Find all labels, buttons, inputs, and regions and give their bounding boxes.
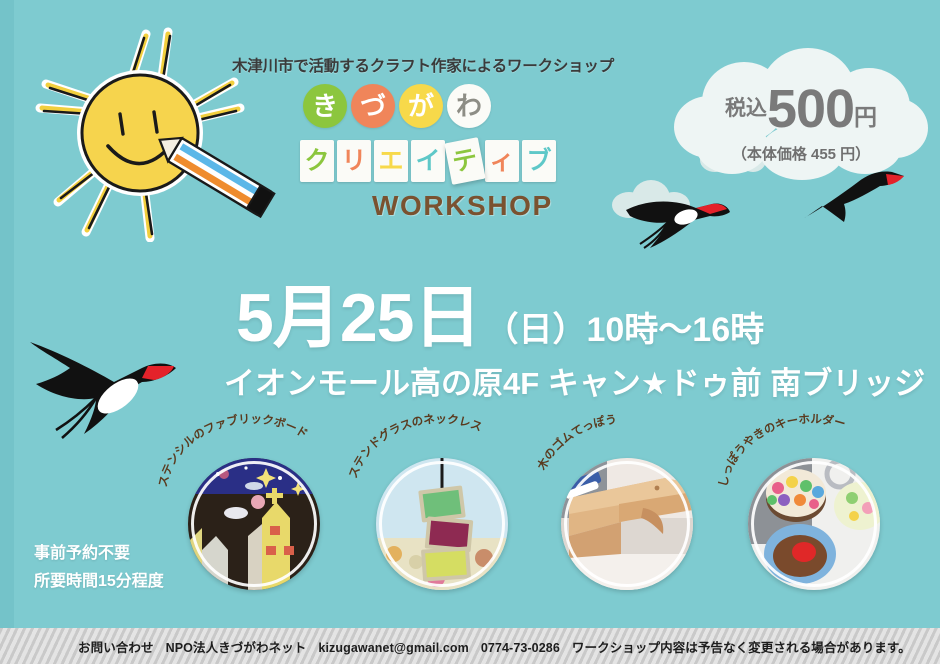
price-currency: 円 bbox=[854, 104, 877, 130]
swallow-icon-middle bbox=[620, 186, 738, 252]
price-amount: 500 bbox=[767, 79, 854, 139]
logo-tile-bu: ブ bbox=[522, 140, 556, 182]
logo-tile-small-i: ィ bbox=[485, 140, 519, 182]
workshop-item-fabric-board[interactable]: ステンシルのファブリックボード bbox=[180, 440, 328, 612]
price-tax-label: 税込 bbox=[725, 97, 767, 120]
note-duration: 所要時間15分程度 bbox=[34, 568, 164, 596]
tagline: 木津川市で活動するクラフト作家によるワークショップ bbox=[232, 54, 572, 76]
price-subtitle: （本体価格 455 円） bbox=[672, 143, 930, 164]
workshop-item-enamel-keychain[interactable]: しっぽうやきのキーホルダー bbox=[740, 440, 888, 612]
workshop-word: WORKSHOP bbox=[372, 190, 553, 222]
price-block: 税込500円 （本体価格 455 円） bbox=[672, 48, 930, 180]
swallow-icon-right bbox=[800, 166, 908, 226]
footer-contact-label: お問い合わせ bbox=[78, 641, 154, 655]
logo-tile-ri: リ bbox=[337, 140, 371, 182]
item-photo-3 bbox=[561, 458, 693, 590]
price-main-line: 税込500円 bbox=[672, 78, 930, 140]
note-no-reservation: 事前予約不要 bbox=[34, 540, 164, 568]
logo-creative: ク リ エ イ テ ィ ブ bbox=[300, 140, 556, 182]
workshop-item-rubber-band-gun[interactable]: 木のゴムてっぽう bbox=[553, 440, 701, 612]
event-date-row: 5月25日（日）10時〜16時 bbox=[236, 262, 936, 361]
footer-email[interactable]: kizugawanet@gmail.com bbox=[318, 641, 468, 655]
footer-organization: NPO法人きづがわネット bbox=[166, 641, 307, 655]
logo-tile-e: エ bbox=[374, 140, 408, 182]
flyer-poster: 木津川市で活動するクラフト作家によるワークショップ き づ が わ ク リ エ … bbox=[0, 0, 940, 664]
logo-tile-ku: ク bbox=[300, 140, 334, 182]
workshop-item-stained-glass[interactable]: ステンドグラスのネックレス bbox=[368, 440, 516, 612]
logo-tile-i: イ bbox=[411, 140, 445, 182]
item-photo-2 bbox=[376, 458, 508, 590]
logo-circle-zu: づ bbox=[351, 84, 395, 128]
footer-bar: お問い合わせNPO法人きづがわネットkizugawanet@gmail.com0… bbox=[0, 628, 940, 664]
swallow-icon-left bbox=[22, 330, 206, 452]
footer-phone[interactable]: 0774-73-0286 bbox=[481, 641, 560, 655]
event-date-detail: （日）10時〜16時 bbox=[484, 311, 764, 349]
logo-circle-ga: が bbox=[399, 84, 443, 128]
logo-circle-ki: き bbox=[303, 84, 347, 128]
event-date-main: 5月25日 bbox=[236, 280, 480, 356]
item-photo-4 bbox=[748, 458, 880, 590]
item-photo-1 bbox=[188, 458, 320, 590]
notes-block: 事前予約不要 所要時間15分程度 bbox=[34, 540, 164, 596]
logo-circle-wa: わ bbox=[447, 84, 491, 128]
footer-contact-line: お問い合わせNPO法人きづがわネットkizugawanet@gmail.com0… bbox=[78, 637, 923, 656]
footer-disclaimer: ワークショップ内容は予告なく変更される場合があります。 bbox=[572, 641, 911, 655]
logo-kizugawa: き づ が わ bbox=[303, 84, 491, 128]
event-venue: イオンモール高の原4F キャン★ドゥ前 南ブリッジ bbox=[224, 358, 940, 403]
logo-tile-te: テ bbox=[444, 137, 485, 185]
